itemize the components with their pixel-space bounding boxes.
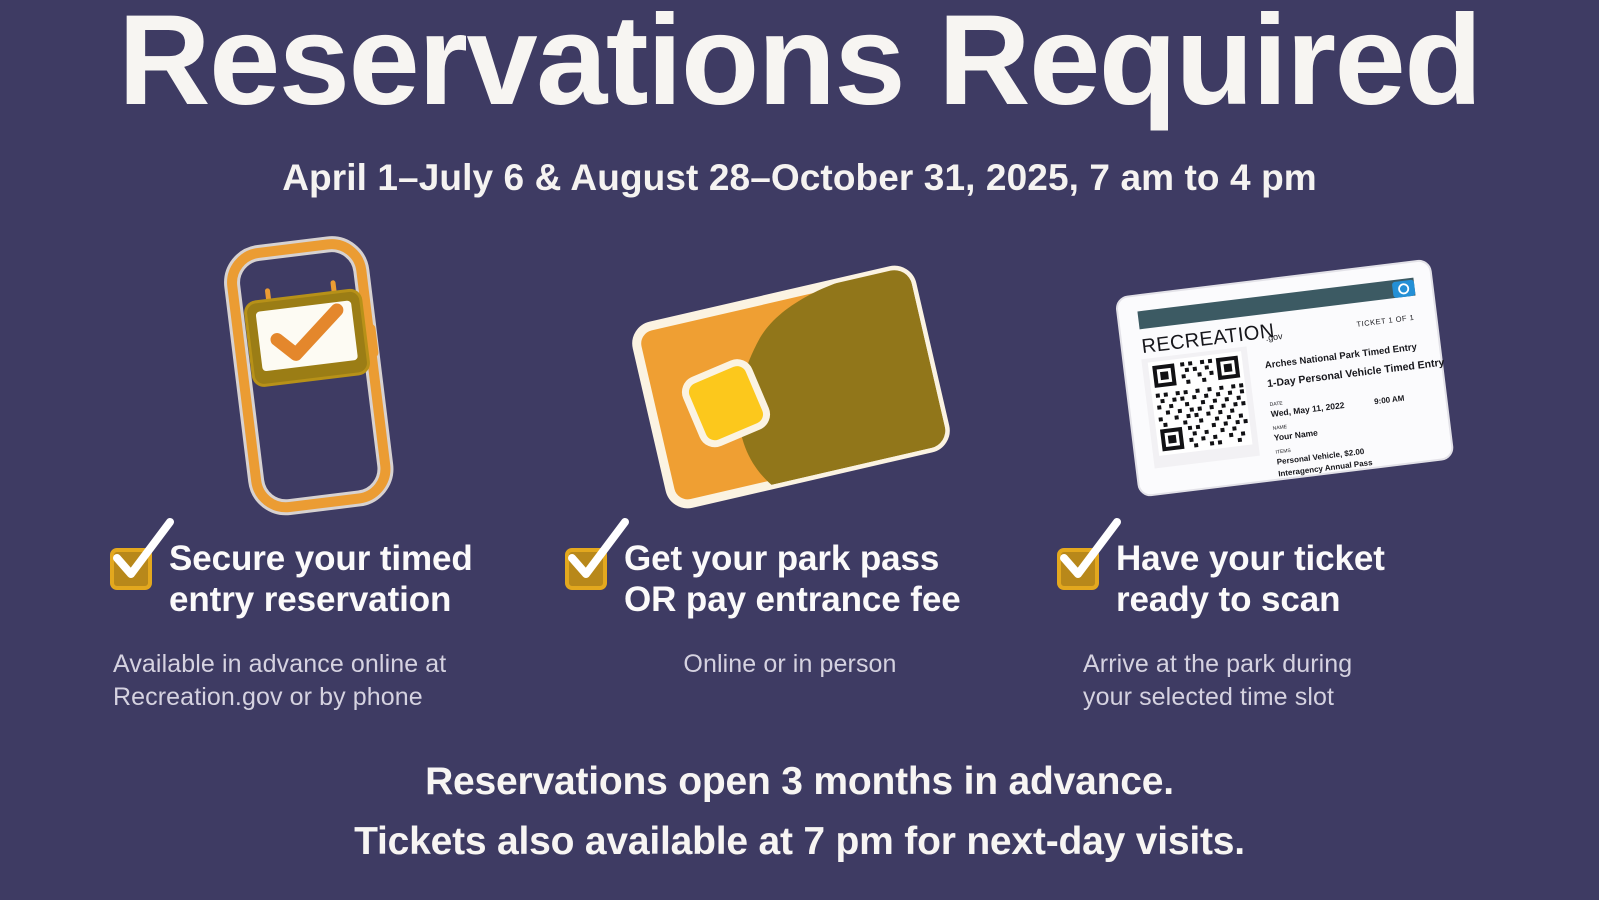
checkbox-checked-icon[interactable] bbox=[1057, 548, 1099, 590]
step-3-check-row: Have your ticket ready to scan bbox=[1057, 538, 1557, 621]
step-3-caption: Arrive at the park during your selected … bbox=[1083, 648, 1533, 715]
step-1-caption: Available in advance online at Recreatio… bbox=[113, 648, 553, 715]
step-2-check-row: Get your park pass OR pay entrance fee bbox=[565, 538, 1065, 621]
step-card-2: Get your park pass OR pay entrance fee O… bbox=[540, 236, 1040, 736]
footer-notes: Reservations open 3 months in advance. T… bbox=[0, 752, 1599, 873]
step-2-title-line1: Get your park pass bbox=[624, 538, 961, 579]
step-1-caption-line2: Recreation.gov or by phone bbox=[113, 681, 553, 714]
step-card-3: RECREATION .gov TICKET 1 OF 1 bbox=[1035, 236, 1535, 736]
page-subtitle: April 1–July 6 & August 28–October 31, 2… bbox=[0, 158, 1599, 199]
step-3-title-line2: ready to scan bbox=[1116, 579, 1385, 620]
step-1-caption-line1: Available in advance online at bbox=[113, 648, 553, 681]
step-1-title: Secure your timed entry reservation bbox=[169, 538, 473, 621]
step-2-title-line2: OR pay entrance fee bbox=[624, 579, 961, 620]
step-1-check-row: Secure your timed entry reservation bbox=[110, 538, 610, 621]
step-2-title: Get your park pass OR pay entrance fee bbox=[624, 538, 961, 621]
steps-row: Secure your timed entry reservation Avai… bbox=[0, 236, 1599, 736]
step-3-title-line1: Have your ticket bbox=[1116, 538, 1385, 579]
step-card-1: Secure your timed entry reservation Avai… bbox=[55, 236, 555, 736]
reservations-required-poster: Reservations Required April 1–July 6 & A… bbox=[0, 0, 1599, 900]
page-title: Reservations Required bbox=[0, 0, 1599, 127]
step-3-title: Have your ticket ready to scan bbox=[1116, 538, 1385, 621]
checkbox-checked-icon[interactable] bbox=[110, 548, 152, 590]
phone-calendar-check-icon bbox=[55, 236, 555, 526]
step-2-caption: Online or in person bbox=[540, 648, 1040, 681]
step-3-caption-line2: your selected time slot bbox=[1083, 681, 1533, 714]
step-1-title-line2: entry reservation bbox=[169, 579, 473, 620]
park-pass-card-icon bbox=[540, 236, 1040, 526]
checkbox-checked-icon[interactable] bbox=[565, 548, 607, 590]
printed-ticket-qr-icon: RECREATION .gov TICKET 1 OF 1 bbox=[1035, 236, 1535, 526]
footer-line-1: Reservations open 3 months in advance. bbox=[0, 752, 1599, 812]
step-2-caption-line1: Online or in person bbox=[540, 648, 1040, 681]
step-1-title-line1: Secure your timed bbox=[169, 538, 473, 579]
svg-text:.gov: .gov bbox=[1265, 331, 1284, 343]
step-3-caption-line1: Arrive at the park during bbox=[1083, 648, 1533, 681]
footer-line-2: Tickets also available at 7 pm for next-… bbox=[0, 812, 1599, 872]
